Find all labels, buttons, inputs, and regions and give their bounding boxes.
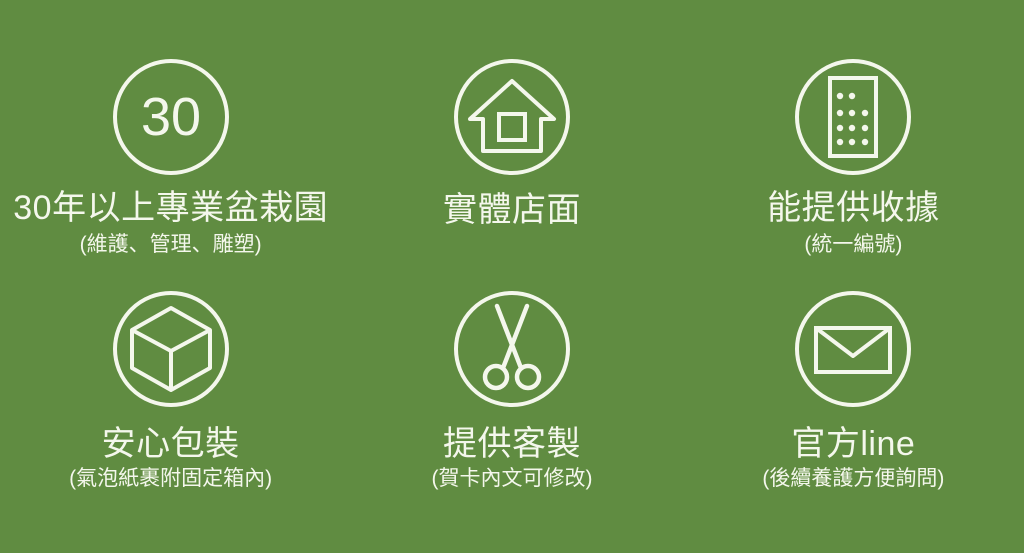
box-cube-icon — [110, 288, 232, 410]
years-badge-30-icon: 30 — [110, 56, 232, 178]
feature-subtitle: (維護、管理、雕塑) — [80, 232, 262, 258]
features-grid: 30 30年以上專業盆栽園 (維護、管理、雕塑) 實體店面 — [0, 0, 1024, 553]
feature-subtitle: (賀卡內文可修改) — [431, 466, 592, 492]
feature-subtitle: (後續養護方便詢問) — [762, 466, 944, 492]
feature-title: 提供客製 — [443, 424, 581, 464]
feature-card-receipt: 能提供收據 (統一編號) — [683, 0, 1024, 276]
feature-title: 官方line — [791, 424, 915, 464]
years-badge-number: 30 — [141, 87, 201, 147]
house-icon — [451, 56, 573, 178]
feature-card-years: 30 30年以上專業盆栽園 (維護、管理、雕塑) — [0, 0, 341, 276]
features-board: 30 30年以上專業盆栽園 (維護、管理、雕塑) 實體店面 — [0, 0, 1024, 553]
envelope-icon — [792, 288, 914, 410]
receipt-icon — [792, 56, 914, 178]
feature-card-store: 實體店面 — [341, 0, 682, 276]
scissors-icon — [451, 288, 573, 410]
feature-title: 30年以上專業盆栽園 — [13, 188, 328, 228]
feature-card-packaging: 安心包裝 (氣泡紙裹附固定箱內) — [0, 276, 341, 553]
feature-subtitle: (統一編號) — [804, 232, 902, 258]
feature-title: 安心包裝 — [102, 424, 240, 464]
feature-card-customization: 提供客製 (賀卡內文可修改) — [341, 276, 682, 553]
feature-title: 實體店面 — [443, 190, 581, 230]
feature-card-line: 官方line (後續養護方便詢問) — [683, 276, 1024, 553]
feature-title: 能提供收據 — [767, 188, 940, 228]
feature-subtitle: (氣泡紙裹附固定箱內) — [69, 466, 272, 492]
